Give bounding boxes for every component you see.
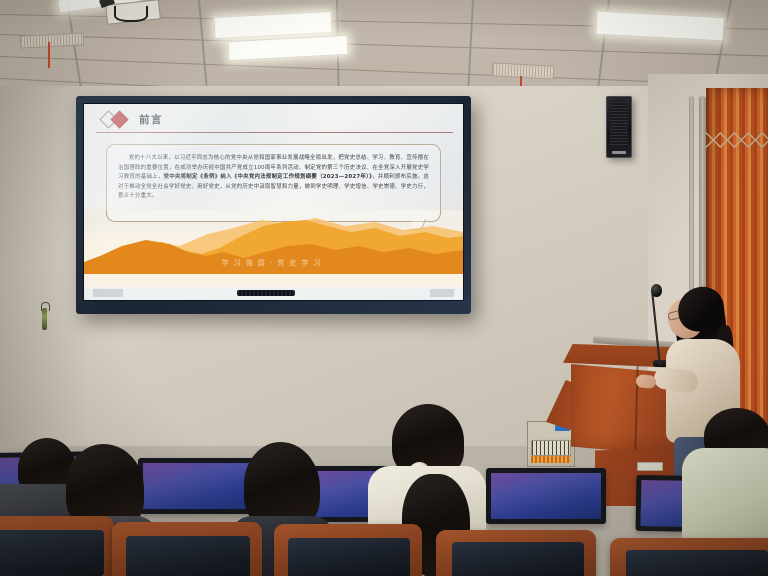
auditorium-chair-cushion[interactable] <box>126 536 250 576</box>
lecture-hall-scene: 前言 党的十八大以来，以习近平同志为核心的党中央从党和国家事业发展战略全局出发，… <box>0 0 768 576</box>
auditorium-chair-cushion[interactable] <box>0 530 104 576</box>
auditorium-chair-cushion[interactable] <box>288 538 410 576</box>
auditorium-chair-cushion[interactable] <box>452 542 584 576</box>
seat-row-foreground <box>0 0 768 576</box>
auditorium-chair-cushion[interactable] <box>626 550 768 576</box>
